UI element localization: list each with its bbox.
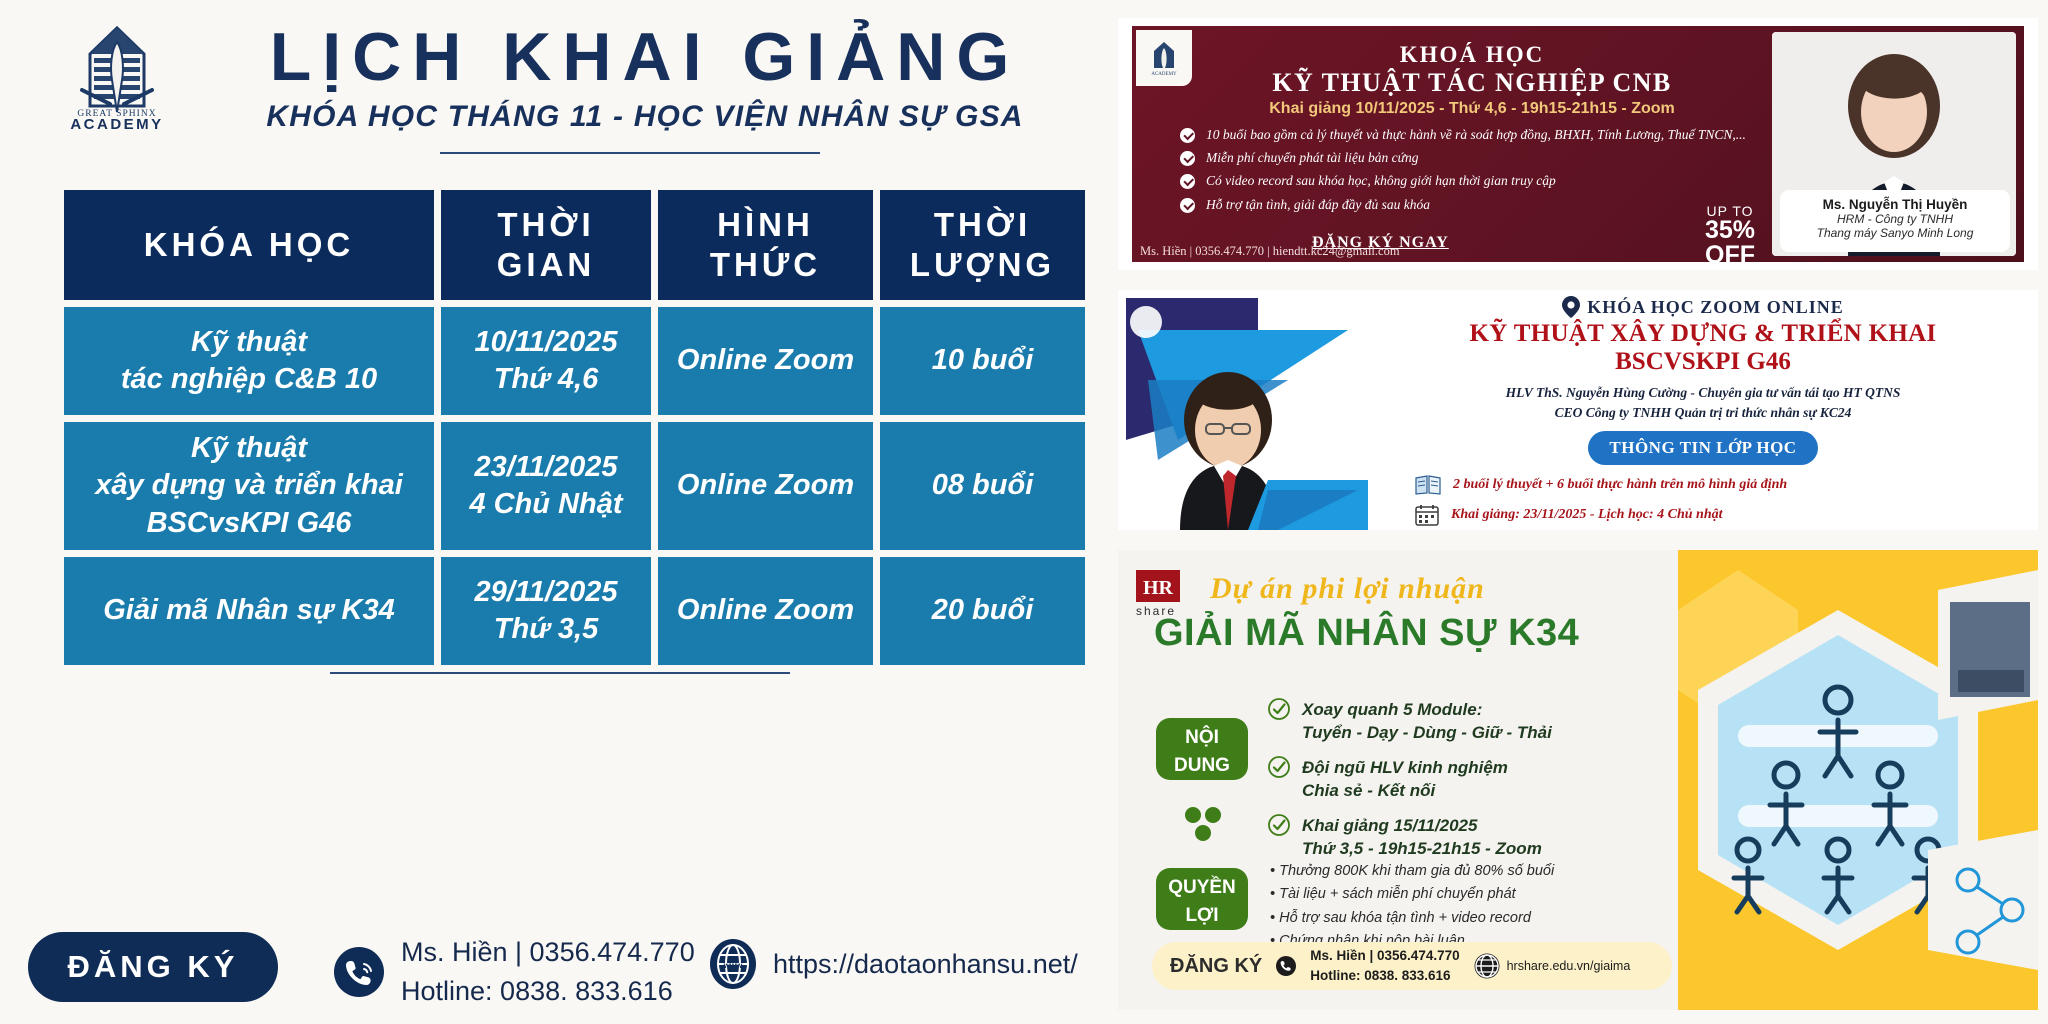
card2-content: KHÓA HỌC ZOOM ONLINE KỸ THUẬT XÂY DỰNG &… — [1373, 296, 2033, 530]
card1-kicker: KHOÁ HỌC — [1192, 42, 1752, 68]
card3-bullet: Đội ngũ HLV kinh nghiệm Chia sẻ - Kết nố… — [1268, 756, 1658, 803]
card3-yellow-panel — [1678, 550, 2038, 1010]
card3-badge-content-l2: DUNG — [1156, 752, 1248, 780]
schedule-table: KHÓA HỌC THỜI GIAN HÌNH THỨC THỜI LƯỢNG — [57, 183, 1092, 672]
website-url[interactable]: https://daotaonhansu.net/ — [773, 949, 1078, 980]
promo-card-giaima[interactable]: HR share Dự án phi lợi nhuận GIẢI MÃ NHÂ… — [1118, 550, 2038, 1010]
contact-line-2: Hotline: 0838. 833.616 — [401, 972, 695, 1011]
course-line1: Kỹ thuật — [191, 432, 307, 464]
divider-top — [440, 152, 820, 154]
card1-bullet: 10 buổi bao gồm cả lý thuyết và thực hàn… — [1180, 126, 1760, 144]
cell-duration: 10 buổi — [880, 307, 1085, 415]
check-circle-icon — [1268, 698, 1290, 720]
card3-benefit-list: • Thưởng 800K khi tham gia đủ 80% số buổ… — [1270, 860, 1670, 954]
cell-time: 29/11/2025 Thứ 3,5 — [441, 557, 651, 665]
card3-title: GIẢI MÃ NHÂN SỰ K34 — [1154, 612, 1579, 655]
card3-web-url[interactable]: hrshare.edu.vn/giaima — [1507, 959, 1631, 973]
globe-icon: www — [707, 938, 759, 990]
card2-trainer-line2: CEO Công ty TNHH Quản trị tri thức nhân … — [1373, 403, 2033, 423]
col-header-time: THỜI GIAN — [441, 190, 651, 300]
card3-contact-line2: Hotline: 0838. 833.616 — [1310, 966, 1459, 986]
card3-badge-benefit-l1: QUYỀN — [1156, 874, 1248, 902]
card3-benefit-item: • Hỗ trợ sau khóa tận tình + video recor… — [1270, 907, 1670, 930]
promo-card-cnb[interactable]: ACADEMY KHOÁ HỌC KỸ THUẬT TÁC NGHIỆP CNB… — [1118, 18, 2038, 270]
card3-badge-content-l1: NỘI — [1156, 724, 1248, 752]
cell-duration: 20 buổi — [880, 557, 1085, 665]
card1-bullet-list: 10 buổi bao gồm cả lý thuyết và thực hàn… — [1180, 126, 1760, 219]
card3-web-block[interactable]: hrshare.edu.vn/giaima — [1474, 953, 1631, 979]
cell-course: Kỹ thuật xây dựng và triển khai BSCvsKPI… — [64, 422, 434, 550]
speaker-org: Thang máy Sanyo Minh Long — [1780, 226, 2010, 240]
person-photo-icon — [1118, 290, 1368, 530]
cell-course: Kỹ thuật tác nghiệp C&B 10 — [64, 307, 434, 415]
card3-bullet: Xoay quanh 5 Module: Tuyển - Dạy - Dùng … — [1268, 698, 1658, 745]
course-days: 4 Chủ Nhật — [469, 488, 622, 520]
cell-time: 10/11/2025 Thứ 4,6 — [441, 307, 651, 415]
course-days: Thứ 3,5 — [494, 613, 599, 645]
card1-contact: Ms. Hiền | 0356.474.770 | hiendtt.kc24@g… — [1140, 244, 1400, 259]
col-header-mode-line2: THỨC — [710, 246, 821, 283]
card3-illustration-icon — [1678, 550, 2038, 1010]
check-circle-icon — [1268, 814, 1290, 836]
brand-logo: GREAT SPHINX ACADEMY — [52, 20, 182, 140]
speaker-role: HRM - Công ty TNHH — [1780, 212, 2010, 226]
cell-mode: Online Zoom — [658, 422, 873, 550]
page-subtitle: KHÓA HỌC THÁNG 11 - HỌC VIỆN NHÂN SỰ GSA — [190, 100, 1100, 134]
card3-badge-benefit-l2: LỢI — [1156, 902, 1248, 930]
course-date: 29/11/2025 — [475, 576, 618, 608]
hrshare-logo-icon: HR share — [1136, 570, 1192, 618]
svg-text:HR: HR — [1143, 577, 1174, 599]
card3-register-button[interactable]: ĐĂNG KÝ — [1170, 955, 1262, 978]
card2-title-line2: BSCVSKPI G46 — [1373, 348, 2033, 376]
speaker-name: Ms. Nguyễn Thị Huyền — [1780, 197, 2010, 212]
card1-speaker-card: Ms. Nguyễn Thị Huyền HRM - Công ty TNHH … — [1780, 190, 2010, 252]
col-header-mode: HÌNH THỨC — [658, 190, 873, 300]
table-row: Kỹ thuật tác nghiệp C&B 10 10/11/2025 Th… — [64, 307, 1085, 415]
left-panel: GREAT SPHINX ACADEMY LỊCH KHAI GIẢNG KHÓ… — [0, 0, 1110, 1024]
cell-mode: Online Zoom — [658, 307, 873, 415]
course-days: Thứ 4,6 — [494, 363, 599, 395]
card3-benefit-item: • Tài liệu + sách miễn phí chuyển phát — [1270, 883, 1670, 906]
logo-academy-label: ACADEMY — [52, 116, 182, 133]
col-header-duration: THỜI LƯỢNG — [880, 190, 1085, 300]
card2-trainer-line1: HLV ThS. Nguyễn Hùng Cường - Chuyên gia … — [1373, 383, 2033, 403]
col-header-duration-line1: THỜI — [934, 206, 1031, 243]
card1-bullet: Có video record sau khóa học, không giới… — [1180, 172, 1760, 190]
table-row: Giải mã Nhân sự K34 29/11/2025 Thứ 3,5 O… — [64, 557, 1085, 665]
check-circle-icon — [1268, 756, 1290, 778]
card3-bullet-l2: Thứ 3,5 - 19h15-21h15 - Zoom — [1302, 837, 1542, 860]
card1-bullet: Hỗ trợ tận tình, giải đáp đầy đủ sau khó… — [1180, 196, 1760, 214]
discount-badge-off: OFF — [1692, 243, 1768, 268]
card3-contact-line1: Ms. Hiền | 0356.474.770 — [1310, 946, 1459, 966]
card2-info-list: 2 buổi lý thuyết + 6 buổi thực hành trên… — [1373, 475, 2033, 530]
card2-trainer: HLV ThS. Nguyễn Hùng Cường - Chuyên gia … — [1373, 383, 2033, 422]
card3-bullet-l2: Chia sẻ - Kết nối — [1302, 779, 1508, 802]
card2-kicker: KHÓA HỌC ZOOM ONLINE — [1587, 297, 1844, 318]
card2-info-text: Khai giảng: 23/11/2025 - Lịch học: 4 Chủ… — [1451, 507, 1723, 523]
card2-info-row: Khai giảng: 23/11/2025 - Lịch học: 4 Chủ… — [1415, 504, 2033, 526]
globe-icon — [1474, 953, 1500, 979]
card3-footer: ĐĂNG KÝ Ms. Hiền | 0356.474.770 Hotline:… — [1152, 942, 1672, 990]
course-date: 10/11/2025 — [475, 326, 618, 358]
cell-course: Giải mã Nhân sự K34 — [64, 557, 434, 665]
card3-benefit-item: • Thưởng 800K khi tham gia đủ 80% số buổ… — [1270, 860, 1670, 883]
card1-body: ACADEMY KHOÁ HỌC KỸ THUẬT TÁC NGHIỆP CNB… — [1132, 26, 2024, 262]
svg-text:www: www — [723, 961, 743, 970]
card3-bullet: Khai giảng 15/11/2025 Thứ 3,5 - 19h15-21… — [1268, 814, 1658, 861]
card3-contact: Ms. Hiền | 0356.474.770 Hotline: 0838. 8… — [1310, 946, 1459, 987]
col-header-course-label: KHÓA HỌC — [144, 226, 354, 263]
table-row: Kỹ thuật xây dựng và triển khai BSCvsKPI… — [64, 422, 1085, 550]
col-header-time-line1: THỜI — [497, 206, 594, 243]
card1-bullet: Miễn phí chuyển phát tài liệu bản cứng — [1180, 149, 1760, 167]
promo-card-bsckpi[interactable]: KHÓA HỌC ZOOM ONLINE KỸ THUẬT XÂY DỰNG &… — [1118, 290, 2038, 530]
card3-script-label: Dự án phi lợi nhuận — [1210, 572, 1485, 606]
course-line1: Kỹ thuật — [191, 326, 307, 358]
card3-bullet-l2: Tuyển - Dạy - Dùng - Giữ - Thải — [1302, 721, 1552, 744]
card1-schedule: Khai giảng 10/11/2025 - Thứ 4,6 - 19h15-… — [1172, 100, 1772, 118]
course-line2: xây dựng và triển khai — [95, 469, 403, 501]
register-button[interactable]: ĐĂNG KÝ — [28, 932, 278, 1002]
phone-icon — [333, 946, 385, 998]
card3-bullet-list: Xoay quanh 5 Module: Tuyển - Dạy - Dùng … — [1268, 698, 1658, 872]
card3-bullet-l1: Xoay quanh 5 Module: — [1302, 698, 1552, 721]
card3-badge-content: NỘI DUNG — [1156, 718, 1248, 780]
card2-info-row: 2 buổi lý thuyết + 6 buổi thực hành trên… — [1415, 475, 2033, 495]
card3-bullet-l1: Khai giảng 15/11/2025 — [1302, 814, 1542, 837]
card2-info-button[interactable]: THÔNG TIN LỚP HỌC — [1588, 431, 1818, 465]
col-header-time-line2: GIAN — [497, 246, 596, 283]
calendar-icon — [1415, 504, 1439, 526]
contact-text: Ms. Hiền | 0356.474.770 Hotline: 0838. 8… — [401, 933, 695, 1011]
promo-cards-column: ACADEMY KHOÁ HỌC KỸ THUẬT TÁC NGHIỆP CNB… — [1110, 0, 2048, 1024]
col-header-duration-line2: LƯỢNG — [910, 246, 1055, 283]
book-icon — [1415, 475, 1441, 495]
col-header-course: KHÓA HỌC — [64, 190, 434, 300]
course-line2: tác nghiệp C&B 10 — [121, 363, 377, 395]
phone-icon — [1276, 956, 1296, 976]
card3-bullet-l1: Đội ngũ HLV kinh nghiệm — [1302, 756, 1508, 779]
table-header-row: KHÓA HỌC THỜI GIAN HÌNH THỨC THỜI LƯỢNG — [64, 190, 1085, 300]
cell-duration: 08 buổi — [880, 422, 1085, 550]
card3-bullet-text: Đội ngũ HLV kinh nghiệm Chia sẻ - Kết nố… — [1302, 756, 1508, 803]
contact-block: Ms. Hiền | 0356.474.770 Hotline: 0838. 8… — [333, 933, 695, 1011]
col-header-mode-line1: HÌNH — [717, 206, 814, 243]
card2-speaker-photo — [1118, 290, 1368, 530]
course-date: 23/11/2025 — [475, 451, 618, 483]
course-line3: BSCvsKPI G46 — [147, 507, 352, 539]
clover-dots-icon — [1180, 805, 1230, 845]
divider-bottom — [330, 672, 790, 674]
discount-badge: UP TO 35% OFF — [1692, 204, 1768, 270]
cell-mode: Online Zoom — [658, 557, 873, 665]
page-title: LỊCH KHAI GIẢNG — [190, 22, 1100, 93]
contact-line-1: Ms. Hiền | 0356.474.770 — [401, 933, 695, 972]
cell-time: 23/11/2025 4 Chủ Nhật — [441, 422, 651, 550]
website-block[interactable]: www https://daotaonhansu.net/ — [707, 938, 1078, 990]
card1-title: KỸ THUẬT TÁC NGHIỆP CNB — [1172, 68, 1772, 98]
card3-bullet-text: Khai giảng 15/11/2025 Thứ 3,5 - 19h15-21… — [1302, 814, 1542, 861]
card2-kicker-row: KHÓA HỌC ZOOM ONLINE — [1373, 296, 2033, 318]
card2-info-text: 2 buổi lý thuyết + 6 buổi thực hành trên… — [1453, 477, 1787, 493]
poster-canvas: GREAT SPHINX ACADEMY LỊCH KHAI GIẢNG KHÓ… — [0, 0, 2048, 1024]
card2-title-line1: KỸ THUẬT XÂY DỰNG & TRIỂN KHAI — [1373, 320, 2033, 348]
card3-bullet-text: Xoay quanh 5 Module: Tuyển - Dạy - Dùng … — [1302, 698, 1552, 745]
card3-badge-benefit: QUYỀN LỢI — [1156, 868, 1248, 930]
location-pin-icon — [1562, 296, 1580, 318]
discount-badge-percent: 35% — [1692, 218, 1768, 243]
